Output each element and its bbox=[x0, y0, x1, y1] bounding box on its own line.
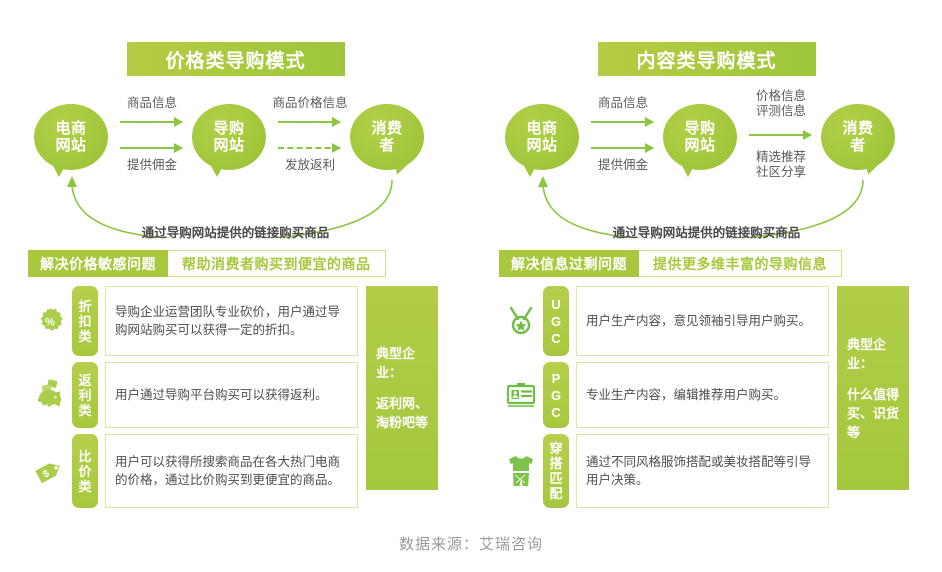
percent-badge-icon: % bbox=[28, 286, 72, 356]
pill-char: 类 bbox=[78, 479, 91, 494]
typical-value: 返利网、淘粉吧等 bbox=[376, 394, 428, 432]
category-row: 穿 搭 匹 配 通过不同风格服饰搭配或美妆搭配等引导用户决策。 bbox=[499, 434, 829, 508]
node-tail-icon bbox=[210, 164, 224, 177]
infographic-root: 价格类导购模式 电商 网站 导购 网站 消费 者 商品信息 提供佣金 bbox=[0, 0, 942, 572]
node-line-1: 电商 bbox=[55, 120, 86, 137]
flow-arrow-goods-info bbox=[120, 121, 182, 123]
pill-char: 穿 bbox=[549, 441, 562, 456]
pill-char: 折 bbox=[78, 299, 91, 314]
category-description: 通过不同风格服饰搭配或美妆搭配等引导用户决策。 bbox=[576, 434, 829, 508]
category-row: $ 比 价 类 用户可以获得所搜索商品在各大热门电商的价格，通过比价购买到更便宜… bbox=[28, 434, 358, 508]
node-line-1: 消费 bbox=[371, 120, 402, 137]
node-tail-icon bbox=[390, 160, 407, 177]
flow-node-ecommerce-site: 电商 网站 bbox=[505, 104, 579, 170]
panel-title-content: 内容类导购模式 bbox=[598, 42, 816, 76]
flow-arrow-rebate bbox=[278, 147, 340, 149]
pill-char: C bbox=[551, 330, 560, 347]
section-banner-price: 解决价格敏感问题 帮助消费者购买到便宜的商品 bbox=[28, 250, 386, 277]
category-description: 专业生产内容，编辑推荐用户购买。 bbox=[576, 362, 829, 428]
flow-node-guide-site: 导购 网站 bbox=[663, 104, 737, 170]
category-description: 导购企业运营团队专业砍价，用户通过导购网站购买可以获得一定的折扣。 bbox=[105, 286, 358, 356]
node-tail-icon bbox=[861, 160, 878, 177]
node-line-1: 电商 bbox=[526, 120, 557, 137]
category-row: 返 利 类 用户通过导购平台购买可以获得返利。 bbox=[28, 362, 358, 428]
category-row: U G C 用户生产内容，意见领袖引导用户购买。 bbox=[499, 286, 829, 356]
flow-node-consumer: 消费 者 bbox=[350, 104, 424, 170]
pill-char: 匹 bbox=[549, 471, 562, 486]
category-description: 用户生产内容，意见领袖引导用户购买。 bbox=[576, 286, 829, 356]
svg-text:%: % bbox=[45, 317, 55, 329]
section-banner-problem: 解决信息过剩问题 bbox=[499, 250, 639, 277]
category-pill-pgc: P G C bbox=[543, 362, 569, 428]
category-rows-price: % 折 扣 类 导购企业运营团队专业砍价，用户通过导购网站购买可以获得一定的折扣… bbox=[28, 286, 358, 514]
category-description: 用户可以获得所搜索商品在各大热门电商的价格，通过比价购买到更便宜的商品。 bbox=[105, 434, 358, 508]
category-description: 用户通过导购平台购买可以获得返利。 bbox=[105, 362, 358, 428]
node-tail-icon bbox=[681, 164, 695, 177]
pill-char: 返 bbox=[78, 373, 91, 388]
pill-char: C bbox=[551, 404, 560, 421]
panel-price-guide-mode: 价格类导购模式 电商 网站 导购 网站 消费 者 商品信息 提供佣金 bbox=[0, 0, 471, 520]
flow-diagram-content: 电商 网站 导购 网站 消费 者 商品信息 提供佣金 价格信息 评测信息 精选推… bbox=[471, 88, 942, 238]
pill-char: G bbox=[551, 313, 561, 330]
pill-char: 搭 bbox=[549, 456, 562, 471]
flow-node-ecommerce-site: 电商 网站 bbox=[34, 104, 108, 170]
category-rows-content: U G C 用户生产内容，意见领袖引导用户购买。 bbox=[499, 286, 829, 514]
category-pill-compare: 比 价 类 bbox=[72, 434, 98, 508]
node-line-1: 导购 bbox=[684, 120, 715, 137]
flow-loop-label-content: 通过导购网站提供的链接购买商品 bbox=[471, 222, 942, 241]
pill-char: 比 bbox=[78, 449, 91, 464]
flow-label-commission: 提供佣金 bbox=[581, 158, 665, 173]
node-tail-icon bbox=[52, 164, 66, 177]
section-banner-solution: 帮助消费者购买到便宜的商品 bbox=[168, 250, 386, 277]
node-tail-icon bbox=[523, 164, 537, 177]
flow-node-guide-site: 导购 网站 bbox=[192, 104, 266, 170]
category-pill-outfit-match: 穿 搭 匹 配 bbox=[543, 434, 569, 508]
category-pill-rebate: 返 利 类 bbox=[72, 362, 98, 428]
node-line-2: 网站 bbox=[213, 137, 244, 154]
piggy-bank-icon bbox=[28, 362, 72, 428]
section-banner-problem: 解决价格敏感问题 bbox=[28, 250, 168, 277]
data-source-footer: 数据来源：艾瑞咨询 bbox=[0, 533, 942, 554]
node-line-2: 网站 bbox=[684, 137, 715, 154]
flow-arrow-commission bbox=[591, 147, 653, 149]
pill-char: P bbox=[552, 370, 561, 387]
pill-char: 类 bbox=[78, 403, 91, 418]
pill-char: 配 bbox=[549, 486, 562, 501]
typical-value: 什么值得买、识货等 bbox=[847, 385, 899, 442]
flow-label-goods-info: 商品信息 bbox=[110, 96, 194, 111]
category-pill-discount: 折 扣 类 bbox=[72, 286, 98, 356]
section-banner-content: 解决信息过剩问题 提供更多维丰富的导购信息 bbox=[499, 250, 842, 277]
flow-label-goods-info: 商品信息 bbox=[581, 96, 665, 111]
section-banner-solution: 提供更多维丰富的导购信息 bbox=[639, 250, 842, 277]
flow-label-rebate: 发放返利 bbox=[268, 158, 352, 173]
outfit-icon bbox=[499, 434, 543, 508]
category-row: % 折 扣 类 导购企业运营团队专业砍价，用户通过导购网站购买可以获得一定的折扣… bbox=[28, 286, 358, 356]
flow-label-price-review-info: 价格信息 评测信息 bbox=[739, 89, 823, 119]
flow-arrow-content-delivery bbox=[749, 134, 811, 136]
flow-arrow-goods-info bbox=[591, 121, 653, 123]
flow-arrow-commission bbox=[120, 147, 182, 149]
node-line-2: 网站 bbox=[526, 137, 557, 154]
flow-arrow-goods-price-info bbox=[278, 121, 340, 123]
pill-char: 扣 bbox=[78, 314, 91, 329]
flow-node-consumer: 消费 者 bbox=[821, 104, 895, 170]
category-pill-ugc: U G C bbox=[543, 286, 569, 356]
panel-content-guide-mode: 内容类导购模式 电商 网站 导购 网站 消费 者 商品信息 提供佣金 价 bbox=[471, 0, 942, 520]
pill-char: 利 bbox=[78, 388, 91, 403]
category-row: P G C 专业生产内容，编辑推荐用户购买。 bbox=[499, 362, 829, 428]
pill-char: 价 bbox=[78, 464, 91, 479]
pill-char: 类 bbox=[78, 329, 91, 344]
node-line-2: 者 bbox=[850, 137, 866, 154]
typical-enterprises-price: 典型企业： 返利网、淘粉吧等 bbox=[366, 286, 438, 490]
node-line-2: 者 bbox=[379, 137, 395, 154]
panel-title-price: 价格类导购模式 bbox=[127, 42, 345, 76]
flow-diagram-price: 电商 网站 导购 网站 消费 者 商品信息 提供佣金 商品价格信息 发放返利 bbox=[0, 88, 471, 238]
node-line-1: 消费 bbox=[842, 120, 873, 137]
flow-label-commission: 提供佣金 bbox=[110, 158, 194, 173]
id-card-icon bbox=[499, 362, 543, 428]
flow-loop-label-price: 通过导购网站提供的链接购买商品 bbox=[0, 222, 471, 241]
node-line-2: 网站 bbox=[55, 137, 86, 154]
flow-label-goods-price-info: 商品价格信息 bbox=[262, 96, 358, 111]
typical-enterprises-content: 典型企业： 什么值得买、识货等 bbox=[837, 286, 909, 490]
price-tag-icon: $ bbox=[28, 434, 72, 508]
flow-label-curation-share: 精选推荐 社区分享 bbox=[739, 150, 823, 180]
typical-label: 典型企业： bbox=[847, 335, 899, 373]
pill-char: G bbox=[551, 387, 561, 404]
medal-icon bbox=[499, 286, 543, 356]
pill-char: U bbox=[551, 296, 560, 313]
typical-label: 典型企业： bbox=[376, 344, 428, 382]
node-line-1: 导购 bbox=[213, 120, 244, 137]
